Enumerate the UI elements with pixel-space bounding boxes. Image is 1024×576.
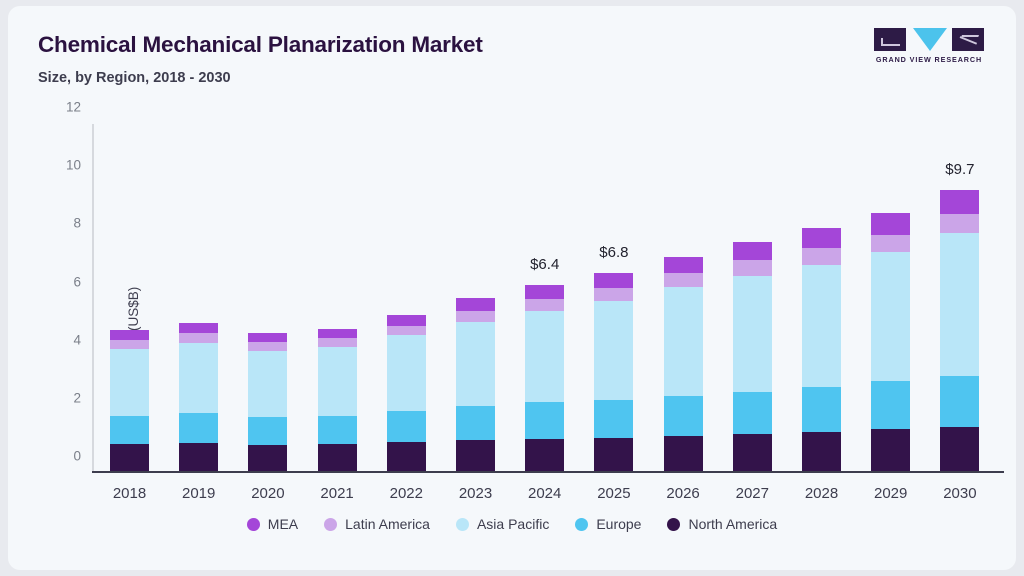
bar-segment-north-america[interactable] — [940, 427, 979, 471]
logo-letter-v-icon — [913, 28, 947, 51]
bar-segment-asia-pacific[interactable] — [940, 233, 979, 377]
bar-segment-asia-pacific[interactable] — [594, 301, 633, 400]
bar-segment-europe[interactable] — [525, 402, 564, 439]
bar-2022[interactable]: 2022 — [387, 315, 426, 471]
y-axis-tick: 10 — [66, 158, 81, 173]
bar-segment-north-america[interactable] — [594, 438, 633, 471]
legend-item-north-america[interactable]: North America — [667, 516, 777, 532]
logo-letter-g-icon — [874, 28, 906, 51]
legend-label: North America — [688, 516, 777, 532]
bar-segment-mea[interactable] — [248, 333, 287, 343]
bar-segment-asia-pacific[interactable] — [802, 265, 841, 387]
bar-segment-asia-pacific[interactable] — [179, 343, 218, 414]
x-axis-line — [92, 471, 1004, 473]
bar-segment-mea[interactable] — [733, 242, 772, 260]
bar-segment-mea[interactable] — [318, 329, 357, 339]
bar-2025[interactable]: $6.82025 — [594, 273, 633, 471]
bar-segment-asia-pacific[interactable] — [664, 287, 703, 396]
x-axis-tick-2021: 2021 — [320, 485, 353, 502]
y-axis-tick: 4 — [73, 332, 81, 347]
x-axis-tick-2026: 2026 — [666, 485, 699, 502]
bar-2021[interactable]: 2021 — [318, 329, 357, 471]
x-axis-tick-2024: 2024 — [528, 485, 561, 502]
bar-segment-europe[interactable] — [871, 381, 910, 429]
chart-legend: MEALatin AmericaAsia PacificEuropeNorth … — [8, 516, 1016, 532]
bar-2018[interactable]: 2018 — [110, 330, 149, 471]
bar-segment-asia-pacific[interactable] — [733, 276, 772, 392]
legend-item-asia-pacific[interactable]: Asia Pacific — [456, 516, 549, 532]
bar-segment-north-america[interactable] — [387, 442, 426, 471]
bar-segment-mea[interactable] — [802, 228, 841, 248]
bar-segment-mea[interactable] — [594, 273, 633, 288]
bar-segment-latin-america[interactable] — [110, 340, 149, 349]
bar-segment-north-america[interactable] — [664, 436, 703, 471]
bar-segment-asia-pacific[interactable] — [525, 311, 564, 402]
y-axis-line — [92, 124, 94, 473]
bar-segment-asia-pacific[interactable] — [110, 349, 149, 416]
bar-segment-latin-america[interactable] — [179, 333, 218, 343]
bar-2026[interactable]: 2026 — [664, 257, 703, 471]
grand-view-research-logo: GRAND VIEW RESEARCH — [874, 28, 984, 68]
bar-2024[interactable]: $6.42024 — [525, 285, 564, 471]
legend-swatch-icon — [456, 518, 469, 531]
bar-segment-europe[interactable] — [387, 411, 426, 442]
bar-segment-north-america[interactable] — [802, 432, 841, 471]
bar-segment-latin-america[interactable] — [733, 260, 772, 275]
y-axis-tick: 2 — [73, 390, 81, 405]
bar-segment-north-america[interactable] — [871, 429, 910, 471]
bar-segment-north-america[interactable] — [248, 445, 287, 471]
legend-item-mea[interactable]: MEA — [247, 516, 298, 532]
bar-segment-mea[interactable] — [387, 315, 426, 326]
bar-2023[interactable]: 2023 — [456, 298, 495, 471]
bar-segment-europe[interactable] — [940, 376, 979, 426]
bar-2030[interactable]: $9.72030 — [940, 190, 979, 471]
bar-segment-europe[interactable] — [594, 400, 633, 437]
bar-2029[interactable]: 2029 — [871, 213, 910, 471]
bar-segment-north-america[interactable] — [733, 434, 772, 471]
y-axis-tick: 12 — [66, 100, 81, 115]
x-axis-tick-2018: 2018 — [113, 485, 146, 502]
x-axis-tick-2023: 2023 — [459, 485, 492, 502]
bar-segment-europe[interactable] — [456, 406, 495, 440]
bar-2019[interactable]: 2019 — [179, 323, 218, 471]
legend-item-latin-america[interactable]: Latin America — [324, 516, 430, 532]
x-axis-tick-2030: 2030 — [943, 485, 976, 502]
y-axis-tick: 8 — [73, 216, 81, 231]
bar-segment-latin-america[interactable] — [248, 342, 287, 351]
logo-marks — [874, 28, 984, 52]
legend-swatch-icon — [247, 518, 260, 531]
page-title: Chemical Mechanical Planarization Market — [38, 32, 483, 58]
bar-segment-mea[interactable] — [940, 190, 979, 214]
bar-segment-north-america[interactable] — [179, 443, 218, 471]
bar-segment-north-america[interactable] — [456, 440, 495, 471]
bar-segment-europe[interactable] — [664, 396, 703, 436]
chart-card: Chemical Mechanical Planarization Market… — [8, 6, 1016, 570]
legend-label: MEA — [268, 516, 298, 532]
bar-2028[interactable]: 2028 — [802, 228, 841, 471]
legend-item-europe[interactable]: Europe — [575, 516, 641, 532]
x-axis-tick-2025: 2025 — [597, 485, 630, 502]
bar-segment-latin-america[interactable] — [871, 235, 910, 252]
bar-segment-europe[interactable] — [802, 387, 841, 432]
legend-label: Europe — [596, 516, 641, 532]
bar-segment-europe[interactable] — [318, 416, 357, 444]
logo-letter-r-icon — [952, 28, 984, 51]
x-axis-tick-2029: 2029 — [874, 485, 907, 502]
bar-total-label: $6.8 — [599, 244, 628, 261]
legend-label: Latin America — [345, 516, 430, 532]
bar-segment-mea[interactable] — [179, 323, 218, 333]
x-axis-tick-2027: 2027 — [736, 485, 769, 502]
bar-total-label: $9.7 — [945, 161, 974, 178]
bar-segment-europe[interactable] — [248, 417, 287, 445]
bar-segment-asia-pacific[interactable] — [456, 322, 495, 406]
bar-segment-north-america[interactable] — [318, 444, 357, 471]
bar-segment-latin-america[interactable] — [456, 311, 495, 322]
bar-segment-north-america[interactable] — [525, 439, 564, 471]
bar-chart-plot-area: Market Size (US$B) 024681012 20182019202… — [92, 118, 1004, 473]
legend-swatch-icon — [575, 518, 588, 531]
bar-segment-asia-pacific[interactable] — [318, 347, 357, 416]
bar-segment-mea[interactable] — [110, 330, 149, 340]
legend-swatch-icon — [667, 518, 680, 531]
bar-total-label: $6.4 — [530, 256, 559, 273]
bar-2027[interactable]: 2027 — [733, 242, 772, 471]
page-subtitle: Size, by Region, 2018 - 2030 — [38, 70, 231, 86]
bar-segment-asia-pacific[interactable] — [248, 351, 287, 417]
bar-segment-europe[interactable] — [110, 416, 149, 444]
logo-text: GRAND VIEW RESEARCH — [874, 55, 984, 64]
bar-segment-asia-pacific[interactable] — [387, 335, 426, 411]
bar-segment-europe[interactable] — [179, 413, 218, 443]
y-axis-tick: 6 — [73, 274, 81, 289]
bar-segment-europe[interactable] — [733, 392, 772, 434]
bar-segment-latin-america[interactable] — [664, 273, 703, 287]
x-axis-tick-2019: 2019 — [182, 485, 215, 502]
bar-segment-mea[interactable] — [456, 298, 495, 311]
bar-2020[interactable]: 2020 — [248, 333, 287, 471]
bar-segment-latin-america[interactable] — [387, 326, 426, 336]
bar-segment-latin-america[interactable] — [802, 248, 841, 265]
bar-segment-mea[interactable] — [525, 285, 564, 300]
bar-segment-latin-america[interactable] — [940, 214, 979, 232]
x-axis-tick-2028: 2028 — [805, 485, 838, 502]
x-axis-tick-2022: 2022 — [390, 485, 423, 502]
bar-segment-latin-america[interactable] — [318, 338, 357, 347]
bar-segment-latin-america[interactable] — [525, 299, 564, 311]
bar-segment-mea[interactable] — [664, 257, 703, 273]
bar-segment-latin-america[interactable] — [594, 288, 633, 301]
bar-segment-north-america[interactable] — [110, 444, 149, 471]
legend-label: Asia Pacific — [477, 516, 549, 532]
x-axis-tick-2020: 2020 — [251, 485, 284, 502]
bar-segment-asia-pacific[interactable] — [871, 252, 910, 381]
bar-segment-mea[interactable] — [871, 213, 910, 235]
legend-swatch-icon — [324, 518, 337, 531]
y-axis-tick: 0 — [73, 449, 81, 464]
